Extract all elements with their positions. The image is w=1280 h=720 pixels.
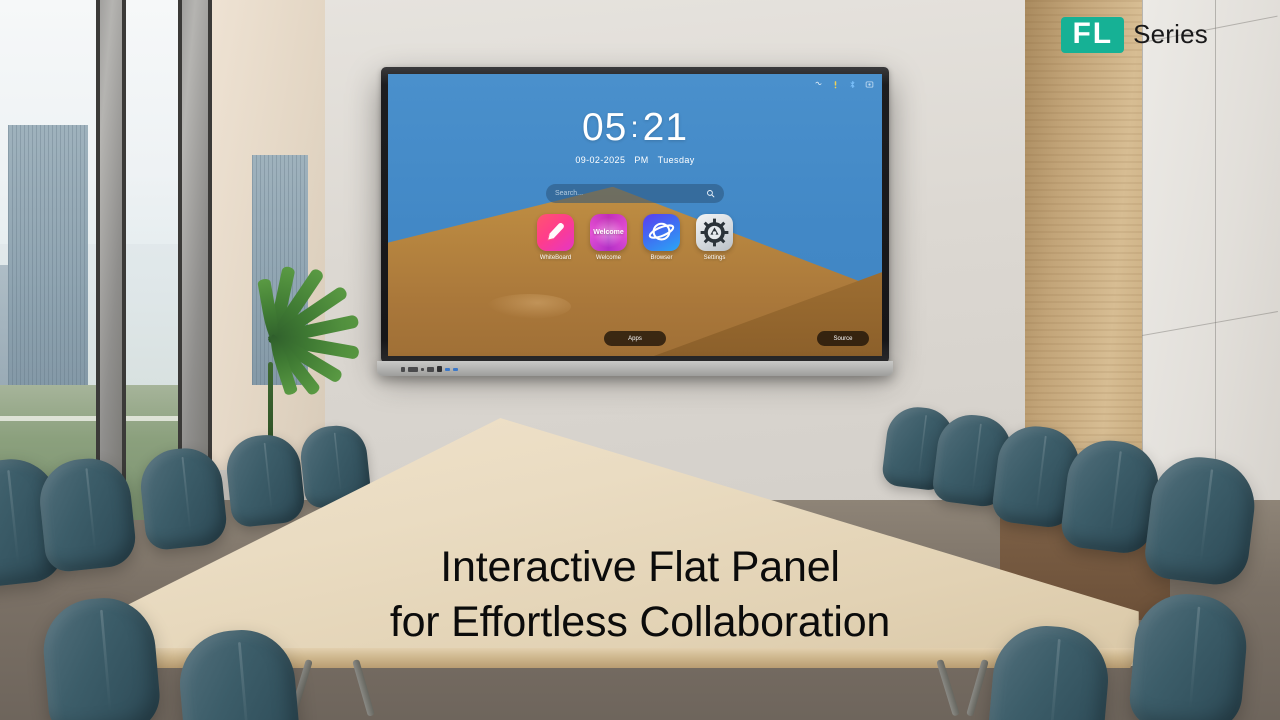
welcome-icon[interactable]: Welcome <box>590 214 627 251</box>
brand-series-label: Series <box>1133 19 1208 50</box>
display-chin <box>377 361 893 376</box>
clock-date-row: 09-02-2025 PM Tuesday <box>388 155 882 165</box>
chair <box>224 432 307 529</box>
brand-chip: FL <box>1061 17 1124 53</box>
headline-line-2: for Effortless Collaboration <box>0 595 1280 650</box>
bluetooth-icon[interactable] <box>848 80 857 89</box>
port-indicator <box>453 368 458 371</box>
clock-weekday: Tuesday <box>658 155 695 165</box>
clock-widget: 05:21 09-02-2025 PM Tuesday <box>388 108 882 165</box>
clock-meridiem: PM <box>634 155 648 165</box>
chin-port-cluster[interactable] <box>401 366 458 372</box>
headline: Interactive Flat Panel for Effortless Co… <box>0 540 1280 650</box>
window-mullion <box>178 0 212 520</box>
nfc-icon[interactable] <box>814 80 823 89</box>
app-label: WhiteBoard <box>537 255 574 261</box>
mullion-gasket <box>122 0 126 520</box>
port-indicator <box>445 368 450 371</box>
port-indicator <box>437 366 442 372</box>
welcome-badge-text: Welcome <box>590 214 627 251</box>
clock-date: 09-02-2025 <box>575 155 625 165</box>
source-button[interactable]: Source <box>817 331 869 346</box>
window-wall <box>0 0 212 520</box>
clock-separator: : <box>627 111 642 144</box>
app-browser[interactable]: Browser <box>643 214 680 261</box>
app-welcome[interactable]: Welcome Welcome <box>590 214 627 261</box>
clock-hours: 05 <box>582 106 627 149</box>
gear-icon[interactable] <box>696 214 733 251</box>
headline-line-1: Interactive Flat Panel <box>0 540 1280 595</box>
app-whiteboard[interactable]: WhiteBoard <box>537 214 574 261</box>
app-shortcut-row: WhiteBoard Welcome Welcome Bro <box>537 214 733 261</box>
window-glass-pane <box>0 0 96 520</box>
mullion-gasket <box>96 0 100 520</box>
brand-lockup: FL Series <box>1061 17 1208 53</box>
screenshot-icon[interactable] <box>865 80 874 89</box>
app-label: Browser <box>643 255 680 261</box>
port-indicator <box>421 368 424 371</box>
apps-button[interactable]: Apps <box>604 331 666 346</box>
search-input[interactable]: Search... <box>555 190 706 197</box>
notification-icon[interactable] <box>831 80 840 89</box>
road-line <box>0 416 96 421</box>
window-glass-pane <box>126 0 178 520</box>
road-line <box>126 416 178 421</box>
sky-haze <box>126 0 178 244</box>
wallpaper-dune-highlight <box>487 294 571 319</box>
app-label: Welcome <box>590 255 627 261</box>
clock-time: 05:21 <box>388 108 882 147</box>
port-indicator <box>427 367 434 372</box>
office-scene: 05:21 09-02-2025 PM Tuesday Search... <box>0 0 1280 720</box>
app-label: Settings <box>696 255 733 261</box>
port-indicator <box>401 367 405 372</box>
app-settings[interactable]: Settings <box>696 214 733 261</box>
port-indicator <box>408 367 418 372</box>
planet-icon[interactable] <box>643 214 680 251</box>
display-screen[interactable]: 05:21 09-02-2025 PM Tuesday Search... <box>388 74 882 356</box>
interactive-flat-panel[interactable]: 05:21 09-02-2025 PM Tuesday Search... <box>381 67 889 363</box>
search-bar[interactable]: Search... <box>546 184 724 203</box>
mullion-gasket <box>178 0 182 520</box>
potted-plant <box>208 212 358 462</box>
pen-icon[interactable] <box>537 214 574 251</box>
status-bar <box>814 80 874 89</box>
chair <box>137 445 229 552</box>
clock-minutes: 21 <box>643 106 688 149</box>
city-tower <box>8 125 88 385</box>
search-icon[interactable] <box>706 189 715 198</box>
